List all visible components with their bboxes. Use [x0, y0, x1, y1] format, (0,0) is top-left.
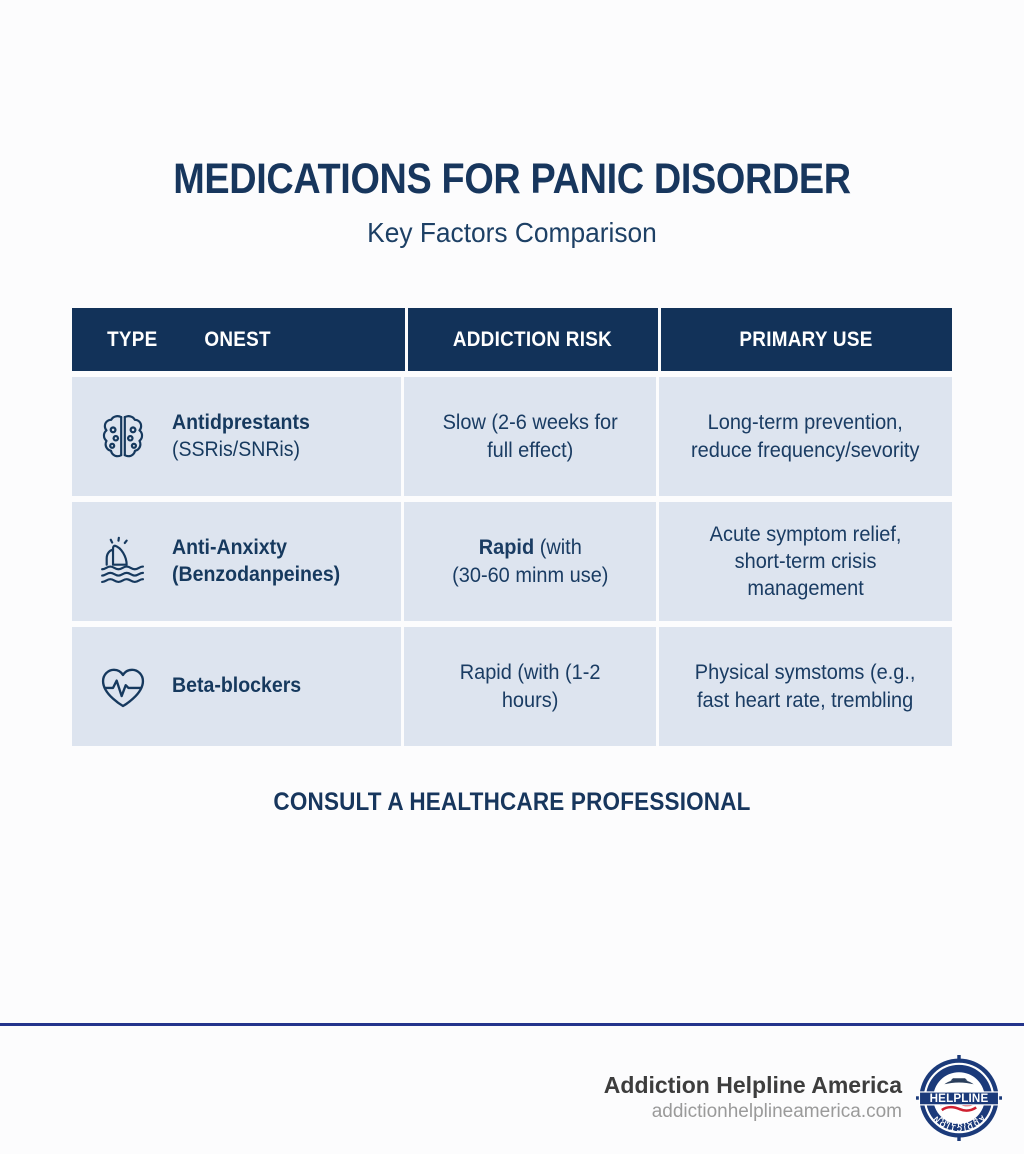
- cell-primary-use: Physical symstoms (e.g., fast heart rate…: [659, 627, 952, 746]
- cell-medication-type: Antidprestants (SSRis/SNRis): [72, 377, 401, 496]
- cell-addiction-risk: Slow (2-6 weeks for full effect): [404, 377, 656, 496]
- column-header-addiction-risk: ADDICTION RISK: [408, 308, 658, 371]
- column-header-onset: ONEST: [204, 328, 270, 352]
- brand-name: Addiction Helpline America: [604, 1072, 902, 1098]
- use-line-2: reduce frequency/sevority: [691, 439, 919, 462]
- risk-line-1: Slow (2-6 weeks for: [442, 411, 617, 434]
- risk-emphasis: Rapid: [478, 536, 533, 559]
- table-row: Antidprestants (SSRis/SNRis) Slow (2-6 w…: [72, 377, 952, 496]
- column-header-type-onset: TYPE ONEST: [72, 308, 405, 371]
- page-subtitle: Key Factors Comparison: [31, 201, 994, 247]
- medication-name: Anti-Anxixty (Benzodanpeines): [172, 535, 340, 589]
- cell-primary-use: Acute symptom relief, short-term crisis …: [659, 502, 952, 621]
- risk-line-2: (30-60 minm use): [452, 564, 608, 587]
- use-line-1: Physical symstoms (e.g.,: [695, 661, 916, 684]
- use-line-1: Acute symptom relief,: [710, 523, 902, 546]
- use-line-1: Long-term prevention,: [708, 411, 903, 434]
- logo-band-text: HELPLINE: [930, 1092, 989, 1105]
- cell-addiction-risk: Rapid (with (1-2 hours): [404, 627, 656, 746]
- comparison-table: TYPE ONEST ADDICTION RISK PRIMARY USE: [72, 308, 952, 746]
- page-title: MEDICATIONS FOR PANIC DISORDER: [61, 158, 962, 201]
- heart-pulse-icon: [92, 656, 154, 718]
- footer: Addiction Helpline America addictionhelp…: [604, 1055, 1002, 1141]
- risk-line-1: (with: [534, 536, 582, 559]
- medication-name: Antidprestants (SSRis/SNRis): [172, 410, 310, 464]
- table-row: Anti-Anxixty (Benzodanpeines) Rapid (wit…: [72, 502, 952, 621]
- risk-line-1: Rapid (with (1-2: [459, 661, 600, 684]
- column-header-primary-use: PRIMARY USE: [661, 308, 952, 371]
- addiction-helpline-america-logo-icon: HELPLINE ADDICTION AMERICA: [916, 1055, 1002, 1141]
- brain-icon: [92, 406, 154, 468]
- cell-addiction-risk: Rapid (with (30-60 minm use): [404, 502, 656, 621]
- cell-medication-type: Anti-Anxixty (Benzodanpeines): [72, 502, 401, 621]
- table-header-row: TYPE ONEST ADDICTION RISK PRIMARY USE: [72, 308, 952, 371]
- risk-line-2: hours): [502, 689, 559, 712]
- cell-primary-use: Long-term prevention, reduce frequency/s…: [659, 377, 952, 496]
- use-line-2: fast heart rate, trembling: [697, 689, 913, 712]
- footer-text-block: Addiction Helpline America addictionhelp…: [604, 1072, 902, 1124]
- column-header-type: TYPE: [107, 328, 157, 352]
- page-header: MEDICATIONS FOR PANIC DISORDER Key Facto…: [0, 158, 1024, 247]
- brand-url[interactable]: addictionhelplineamerica.com: [604, 1098, 902, 1124]
- risk-line-2: full effect): [487, 439, 573, 462]
- cell-medication-type: Beta-blockers: [72, 627, 401, 746]
- footer-divider: [0, 1023, 1024, 1026]
- table-row: Beta-blockers Rapid (with (1-2 hours) Ph…: [72, 627, 952, 746]
- cta-text: CONSULT A HEALTHCARE PROFESSIONAL: [51, 788, 973, 817]
- use-line-2: short-term crisis management: [734, 550, 876, 600]
- calm-waves-icon: [92, 531, 154, 593]
- medication-name: Beta-blockers: [172, 673, 301, 700]
